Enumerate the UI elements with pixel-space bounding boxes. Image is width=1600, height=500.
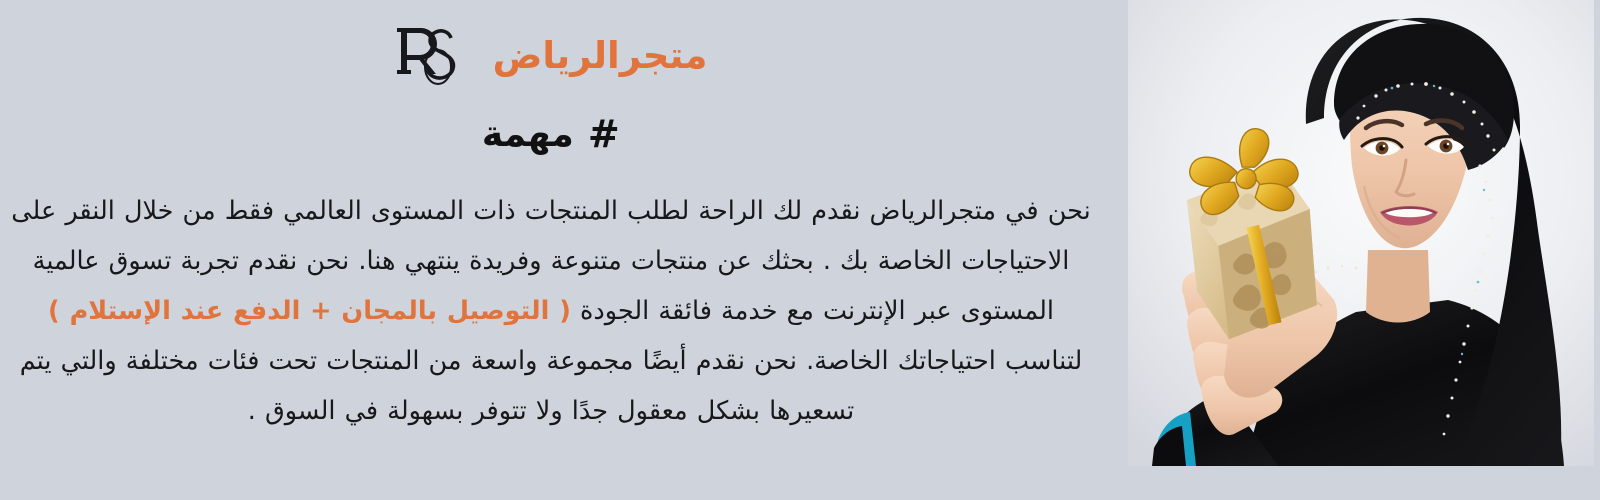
brand-row: متجرالرياض	[395, 18, 708, 92]
body-copy: نحن في متجرالرياض نقدم لك الراحة لطلب ال…	[6, 186, 1096, 436]
heading-title: مهمة	[482, 114, 574, 155]
photo-column	[1120, 0, 1600, 500]
section-heading: مهمة #	[482, 112, 620, 156]
hash-icon: #	[588, 112, 620, 156]
content-column: متجرالرياض	[0, 0, 1120, 500]
promo-banner: متجرالرياض	[0, 0, 1600, 500]
body-segment-2: لتناسب احتياجاتك الخاصة. نحن نقدم أيضًا …	[20, 346, 1083, 426]
monogram-logo-icon	[395, 22, 467, 88]
brand-name: متجرالرياض	[493, 37, 708, 74]
body-segment-accent: ( التوصيل بالمجان + الدفع عند الإستلام )	[48, 296, 571, 326]
hero-photo	[1128, 0, 1594, 466]
